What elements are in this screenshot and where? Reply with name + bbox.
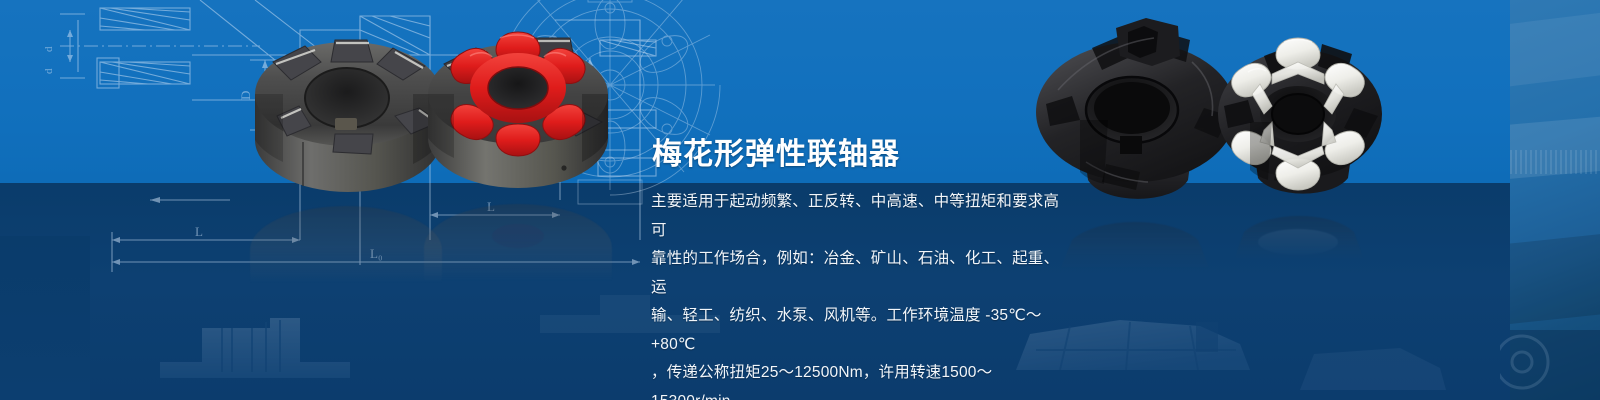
description-line-3: 输、轻工、纺织、水泵、风机等。工作环境温度 -35℃～+80℃: [651, 302, 1071, 359]
description-line-4: ，传递公称扭矩25～12500Nm，许用转速1500～15300r/min。: [651, 359, 1071, 400]
product-jaw-coupling-black: [1028, 12, 1244, 202]
description-line-1: 主要适用于起动频繁、正反转、中高速、中等扭矩和要求高可: [651, 188, 1071, 245]
reflection-jaw-coupling-red: [420, 196, 616, 282]
product-jaw-coupling-red-spider: [418, 18, 618, 203]
right-edge-photo-panel: [1510, 0, 1600, 400]
right-panel-shade-1: [1510, 11, 1600, 87]
page-title: 梅花形弹性联轴器: [652, 140, 900, 170]
reflection-jaw-coupling-gray: [246, 198, 446, 284]
product-banner: L L₀ L D₁ D d d: [0, 0, 1600, 400]
right-panel-shade-4: [1510, 330, 1600, 400]
right-panel-streak: [1510, 150, 1600, 174]
product-jaw-coupling-white-spider: [1214, 22, 1384, 200]
product-description: 主要适用于起动频繁、正反转、中高速、中等扭矩和要求高可 靠性的工作场合，例如：冶…: [651, 188, 1071, 400]
description-line-2: 靠性的工作场合，例如：冶金、矿山、石油、化工、起重、运: [651, 245, 1071, 302]
background-dark-navy-left-step: [0, 236, 90, 400]
right-panel-shade-3: [1510, 231, 1600, 324]
